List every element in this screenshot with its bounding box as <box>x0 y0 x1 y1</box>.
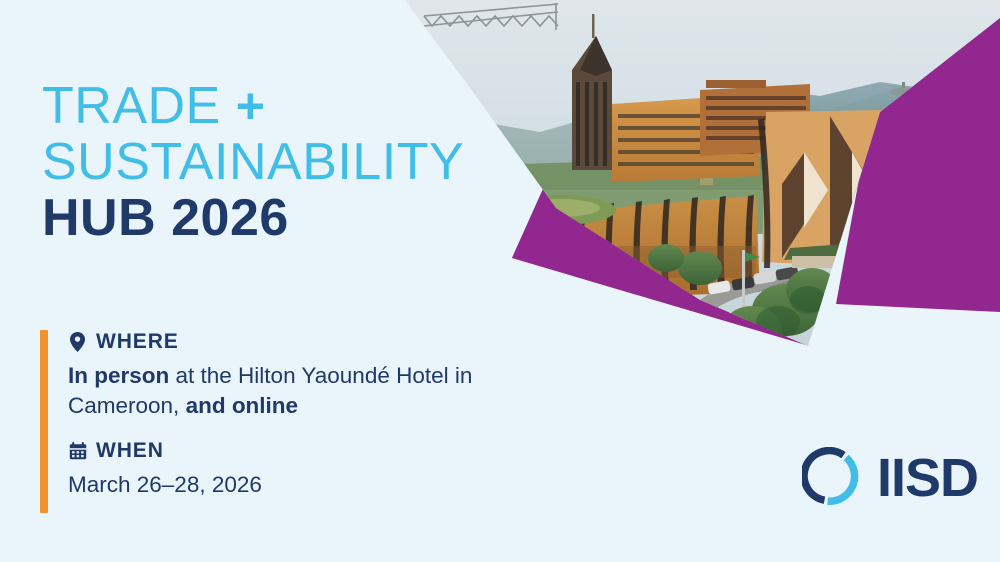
map-pin-icon <box>68 331 87 353</box>
purple-wedge-right <box>836 0 1000 312</box>
headline-line-3: HUB 2026 <box>42 190 562 246</box>
when-label: WHEN <box>96 439 164 463</box>
tower <box>890 82 916 164</box>
headline-trade-word: TRADE <box>42 77 221 135</box>
iisd-ring-icon <box>802 447 864 509</box>
where-group: WHERE In person at the Hilton Yaoundé Ho… <box>68 330 580 421</box>
when-heading: WHEN <box>68 439 580 463</box>
construction-crane <box>424 3 558 30</box>
peaked-tower <box>572 14 612 170</box>
promo-banner: TRADE + SUSTAINABILITY HUB 2026 WHERE In… <box>0 0 1000 562</box>
where-label: WHERE <box>96 330 179 354</box>
congress-hall <box>758 110 896 268</box>
where-text-end: and online <box>186 393 299 418</box>
where-text-lead: In person <box>68 363 169 388</box>
headline-line-2: SUSTAINABILITY <box>42 134 562 190</box>
calendar-icon <box>68 440 87 462</box>
headline-block: TRADE + SUSTAINABILITY HUB 2026 <box>42 78 562 246</box>
hotel-block <box>700 80 810 156</box>
plus-symbol: + <box>236 78 266 134</box>
orange-accent-bar <box>40 330 48 513</box>
ribbed-building <box>556 195 760 300</box>
when-date: March 26–28, 2026 <box>68 470 580 500</box>
iisd-wordmark: IISD <box>877 451 978 505</box>
parked-cars <box>707 266 799 328</box>
headline-line-1: TRADE + <box>42 78 562 134</box>
pavilion <box>784 244 852 268</box>
event-details: WHERE In person at the Hilton Yaoundé Ho… <box>40 330 580 500</box>
slab-building <box>612 94 760 182</box>
where-heading: WHERE <box>68 330 580 354</box>
when-group: WHEN March 26–28, 2026 <box>68 439 580 500</box>
where-text: In person at the Hilton Yaoundé Hotel in… <box>68 361 580 421</box>
iisd-logo: IISD <box>802 447 978 509</box>
